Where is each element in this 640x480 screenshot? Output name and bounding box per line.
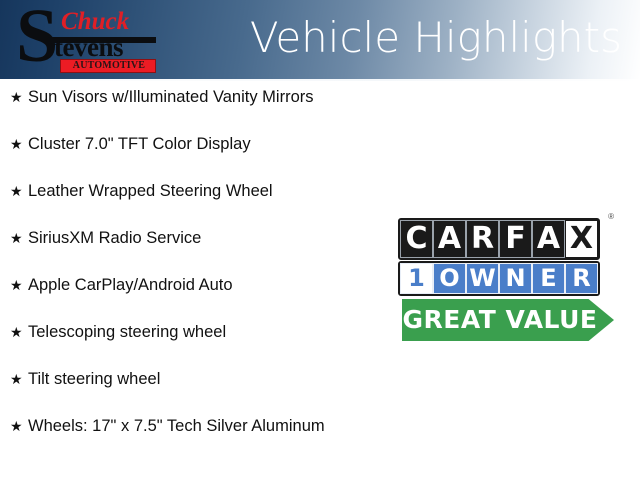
carfax-letter-cell: C [400,220,433,258]
logo-last-name: tevens [54,34,123,61]
highlight-item: ★Leather Wrapped Steering Wheel [0,180,392,227]
star-bullet-icon: ★ [10,227,28,251]
carfax-one-owner-row: 1OWNER [398,261,600,296]
highlight-item: ★Sun Visors w/Illuminated Vanity Mirrors [0,86,392,133]
highlight-item-label: Leather Wrapped Steering Wheel [28,180,392,203]
carfax-letter-cell: A [433,220,466,258]
logo-first-name: Chuck [61,9,129,34]
star-bullet-icon: ★ [10,321,28,345]
owner-letter-cell: R [565,263,598,294]
vehicle-highlights-page: S Chuck tevens AUTOMOTIVE Vehicle Highli… [0,0,640,480]
star-bullet-icon: ★ [10,274,28,298]
logo-tagline-text: AUTOMOTIVE [61,60,157,72]
carfax-letter-cell: A [532,220,565,258]
logo-tagline-bar: AUTOMOTIVE [60,59,156,73]
star-bullet-icon: ★ [10,133,28,157]
page-header: S Chuck tevens AUTOMOTIVE Vehicle Highli… [0,0,640,79]
highlight-item: ★Telescoping steering wheel [0,321,392,368]
carfax-letter-cell: X [565,220,598,258]
highlight-item-label: Wheels: 17" x 7.5" Tech Silver Aluminum [28,415,392,438]
highlight-item-label: Telescoping steering wheel [28,321,392,344]
owner-letter-cell: N [499,263,532,294]
star-bullet-icon: ★ [10,368,28,392]
star-bullet-icon: ★ [10,180,28,204]
registered-trademark-icon: ® [608,213,614,221]
star-bullet-icon: ★ [10,415,28,439]
header-divider [0,79,640,81]
highlight-item-label: Sun Visors w/Illuminated Vanity Mirrors [28,86,392,109]
carfax-letter-cell: F [499,220,532,258]
highlight-item-label: Apple CarPlay/Android Auto [28,274,392,297]
highlight-item: ★Apple CarPlay/Android Auto [0,274,392,321]
highlight-item-label: Tilt steering wheel [28,368,392,391]
owner-letter-cell: O [433,263,466,294]
carfax-great-value-banner: GREAT VALUE [402,299,614,341]
star-bullet-icon: ★ [10,86,28,110]
highlight-item: ★Tilt steering wheel [0,368,392,415]
highlight-item: ★SiriusXM Radio Service [0,227,392,274]
owner-letter-cell: 1 [400,263,433,294]
owner-letter-cell: W [466,263,499,294]
carfax-one-owner-great-value-badge[interactable]: ® CARFAX 1OWNER GREAT VALUE [398,212,614,344]
highlight-item: ★Cluster 7.0" TFT Color Display [0,133,392,180]
carfax-wordmark: CARFAX [398,218,600,260]
page-title: Vehicle Highlights [250,11,622,65]
highlight-item-label: SiriusXM Radio Service [28,227,392,250]
owner-letter-cell: E [532,263,565,294]
highlight-item: ★Wheels: 17" x 7.5" Tech Silver Aluminum [0,415,392,462]
highlight-item-label: Cluster 7.0" TFT Color Display [28,133,392,156]
carfax-letter-cell: R [466,220,499,258]
dealer-logo[interactable]: S Chuck tevens AUTOMOTIVE [12,4,172,76]
vehicle-highlights-list: ★Sun Visors w/Illuminated Vanity Mirrors… [0,86,392,462]
